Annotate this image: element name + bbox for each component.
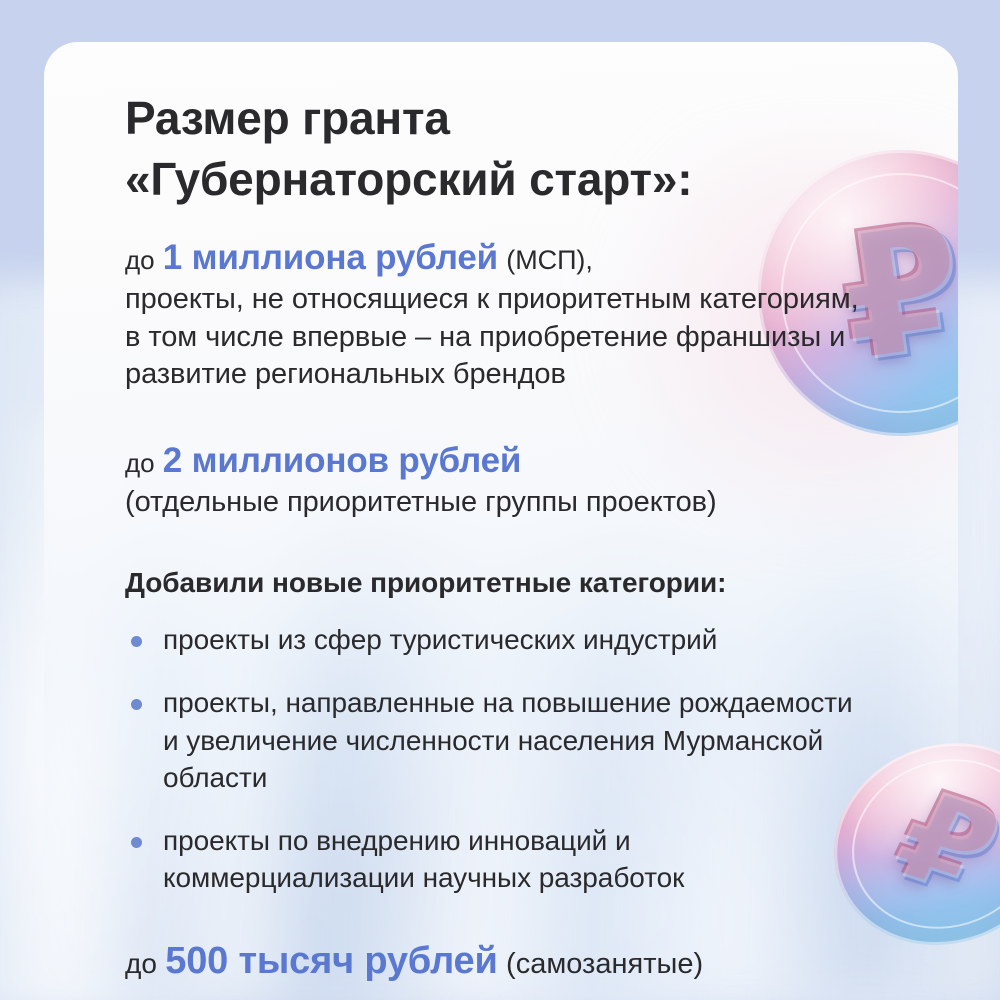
title-line-2: «Губернаторский старт»:	[125, 149, 865, 210]
final-tier-note: (самозанятые)	[506, 948, 703, 980]
tier-2-lead: до	[125, 448, 155, 478]
bullet-dot-icon	[131, 699, 142, 710]
priority-categories-list: проекты из сфер туристических индустрий …	[125, 621, 865, 896]
list-item-label: проекты из сфер туристических индустрий	[163, 624, 717, 655]
grant-tier-2-amount-line: до 2 миллионов рублей	[125, 438, 865, 484]
list-item: проекты, направленные на повышение рожда…	[125, 684, 865, 796]
final-tier-amount: 500 тысяч рублей	[165, 940, 497, 982]
list-item: проекты из сфер туристических индустрий	[125, 621, 865, 658]
list-item-label: проекты, направленные на повышение рожда…	[163, 687, 853, 792]
title-line-1: Размер гранта	[125, 92, 450, 144]
tier-1-lead: до	[125, 245, 155, 275]
tier-2-description: (отдельные приоритетные группы проектов)	[125, 484, 865, 522]
grant-tier-2: до 2 миллионов рублей (отдельные приорит…	[125, 438, 865, 521]
tier-2-amount: 2 миллионов рублей	[163, 441, 521, 480]
list-item-label: проекты по внедрению инноваций и коммерц…	[163, 825, 684, 893]
poster-canvas: ₽ ₽ Размер гранта «Губернаторский старт»…	[0, 0, 1000, 1000]
tier-1-amount: 1 миллиона рублей	[163, 238, 498, 277]
final-tier-lead: до	[125, 948, 157, 979]
grant-tier-final: до 500 тысяч рублей (самозанятые)	[125, 939, 865, 985]
tier-1-note: (МСП),	[506, 245, 593, 275]
bullet-dot-icon	[131, 636, 142, 647]
page-title: Размер гранта «Губернаторский старт»:	[125, 88, 865, 209]
categories-subheading: Добавили новые приоритетные категории:	[125, 567, 865, 599]
grant-tier-1-amount-line: до 1 миллиона рублей (МСП),	[125, 235, 865, 281]
grant-tier-1: до 1 миллиона рублей (МСП), проекты, не …	[125, 235, 865, 394]
tier-1-description: проекты, не относящиеся к приоритетным к…	[125, 281, 865, 394]
bullet-dot-icon	[131, 837, 142, 848]
list-item: проекты по внедрению инноваций и коммерц…	[125, 822, 865, 896]
poster-content: Размер гранта «Губернаторский старт»: до…	[125, 88, 865, 984]
